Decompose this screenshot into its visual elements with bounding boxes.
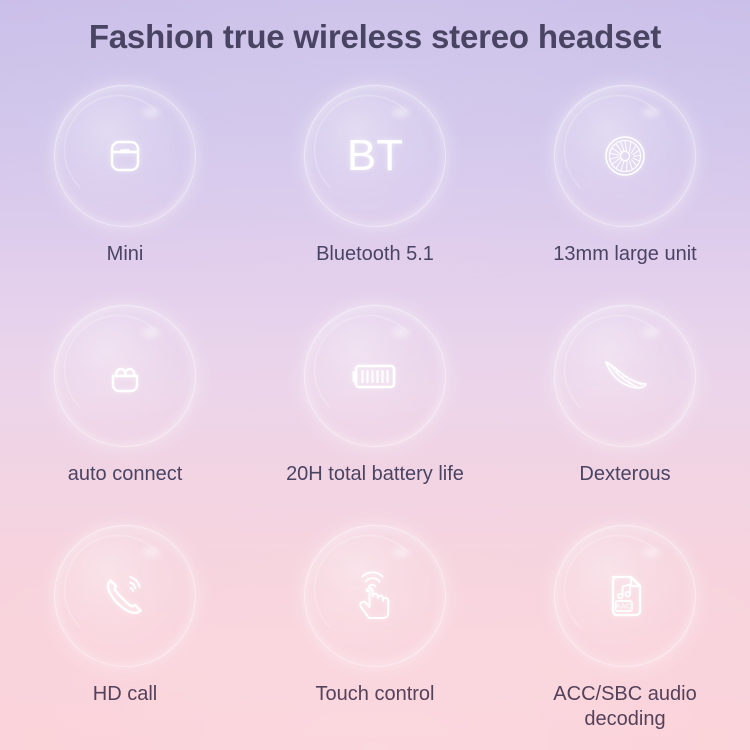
feature-label: 20H total battery life (260, 462, 490, 487)
bubble-glint (638, 104, 664, 121)
touch-hand-icon (348, 567, 402, 625)
feature-bubble: AAC (553, 524, 697, 668)
bubble-glint (138, 104, 164, 121)
feature-label: 13mm large unit (510, 242, 740, 267)
bubble-glint (388, 104, 414, 121)
feature-bubble (303, 304, 447, 448)
feature-item-auto-connect: auto connect (0, 298, 250, 518)
feature-label: ACC/SBC audio decoding (510, 682, 740, 732)
feature-item-battery-life: 20H total battery life (250, 298, 500, 518)
feature-label: Dexterous (510, 462, 740, 487)
feature-bubble (53, 524, 197, 668)
feature-bubble (303, 524, 447, 668)
bt-text-icon: BT (347, 134, 403, 178)
feature-bubble: BT (303, 84, 447, 228)
feature-item-hd-call: HD call (0, 518, 250, 738)
earbud-case-open-icon (99, 350, 151, 402)
audio-file-icon: AAC (598, 568, 652, 624)
feature-item-touch-control: Touch control (250, 518, 500, 738)
battery-full-icon (347, 354, 403, 398)
feature-bubble (53, 304, 197, 448)
bubble-glint (388, 324, 414, 341)
feature-item-driver-unit: 13mm large unit (500, 78, 750, 298)
feather-icon (596, 353, 654, 399)
bubble-glint (138, 544, 164, 561)
bubble-glint (138, 324, 164, 341)
page-title: Fashion true wireless stereo headset (0, 18, 750, 56)
feature-label: HD call (10, 682, 240, 707)
feature-infographic-poster: Fashion true wireless stereo headset Min… (0, 0, 750, 750)
bubble-glint (638, 544, 664, 561)
feature-label: Touch control (260, 682, 490, 707)
feature-bubble (553, 84, 697, 228)
feature-bubble (553, 304, 697, 448)
bubble-glint (638, 324, 664, 341)
feature-item-bluetooth: BT Bluetooth 5.1 (250, 78, 500, 298)
audio-codec-badge-text: AAC (615, 602, 632, 611)
feature-label: Mini (10, 242, 240, 267)
feature-item-audio-decoding: AAC ACC/SBC audio decoding (500, 518, 750, 738)
phone-call-icon (97, 568, 153, 624)
bubble-glint (388, 544, 414, 561)
feature-item-mini: Mini (0, 78, 250, 298)
feature-label: auto connect (10, 462, 240, 487)
feature-grid: Mini BT Bluetooth 5.1 (0, 78, 750, 738)
speaker-driver-icon (598, 129, 652, 183)
feature-label: Bluetooth 5.1 (260, 242, 490, 267)
feature-bubble (53, 84, 197, 228)
feature-item-lightweight: Dexterous (500, 298, 750, 518)
earbud-case-closed-icon (99, 130, 151, 182)
